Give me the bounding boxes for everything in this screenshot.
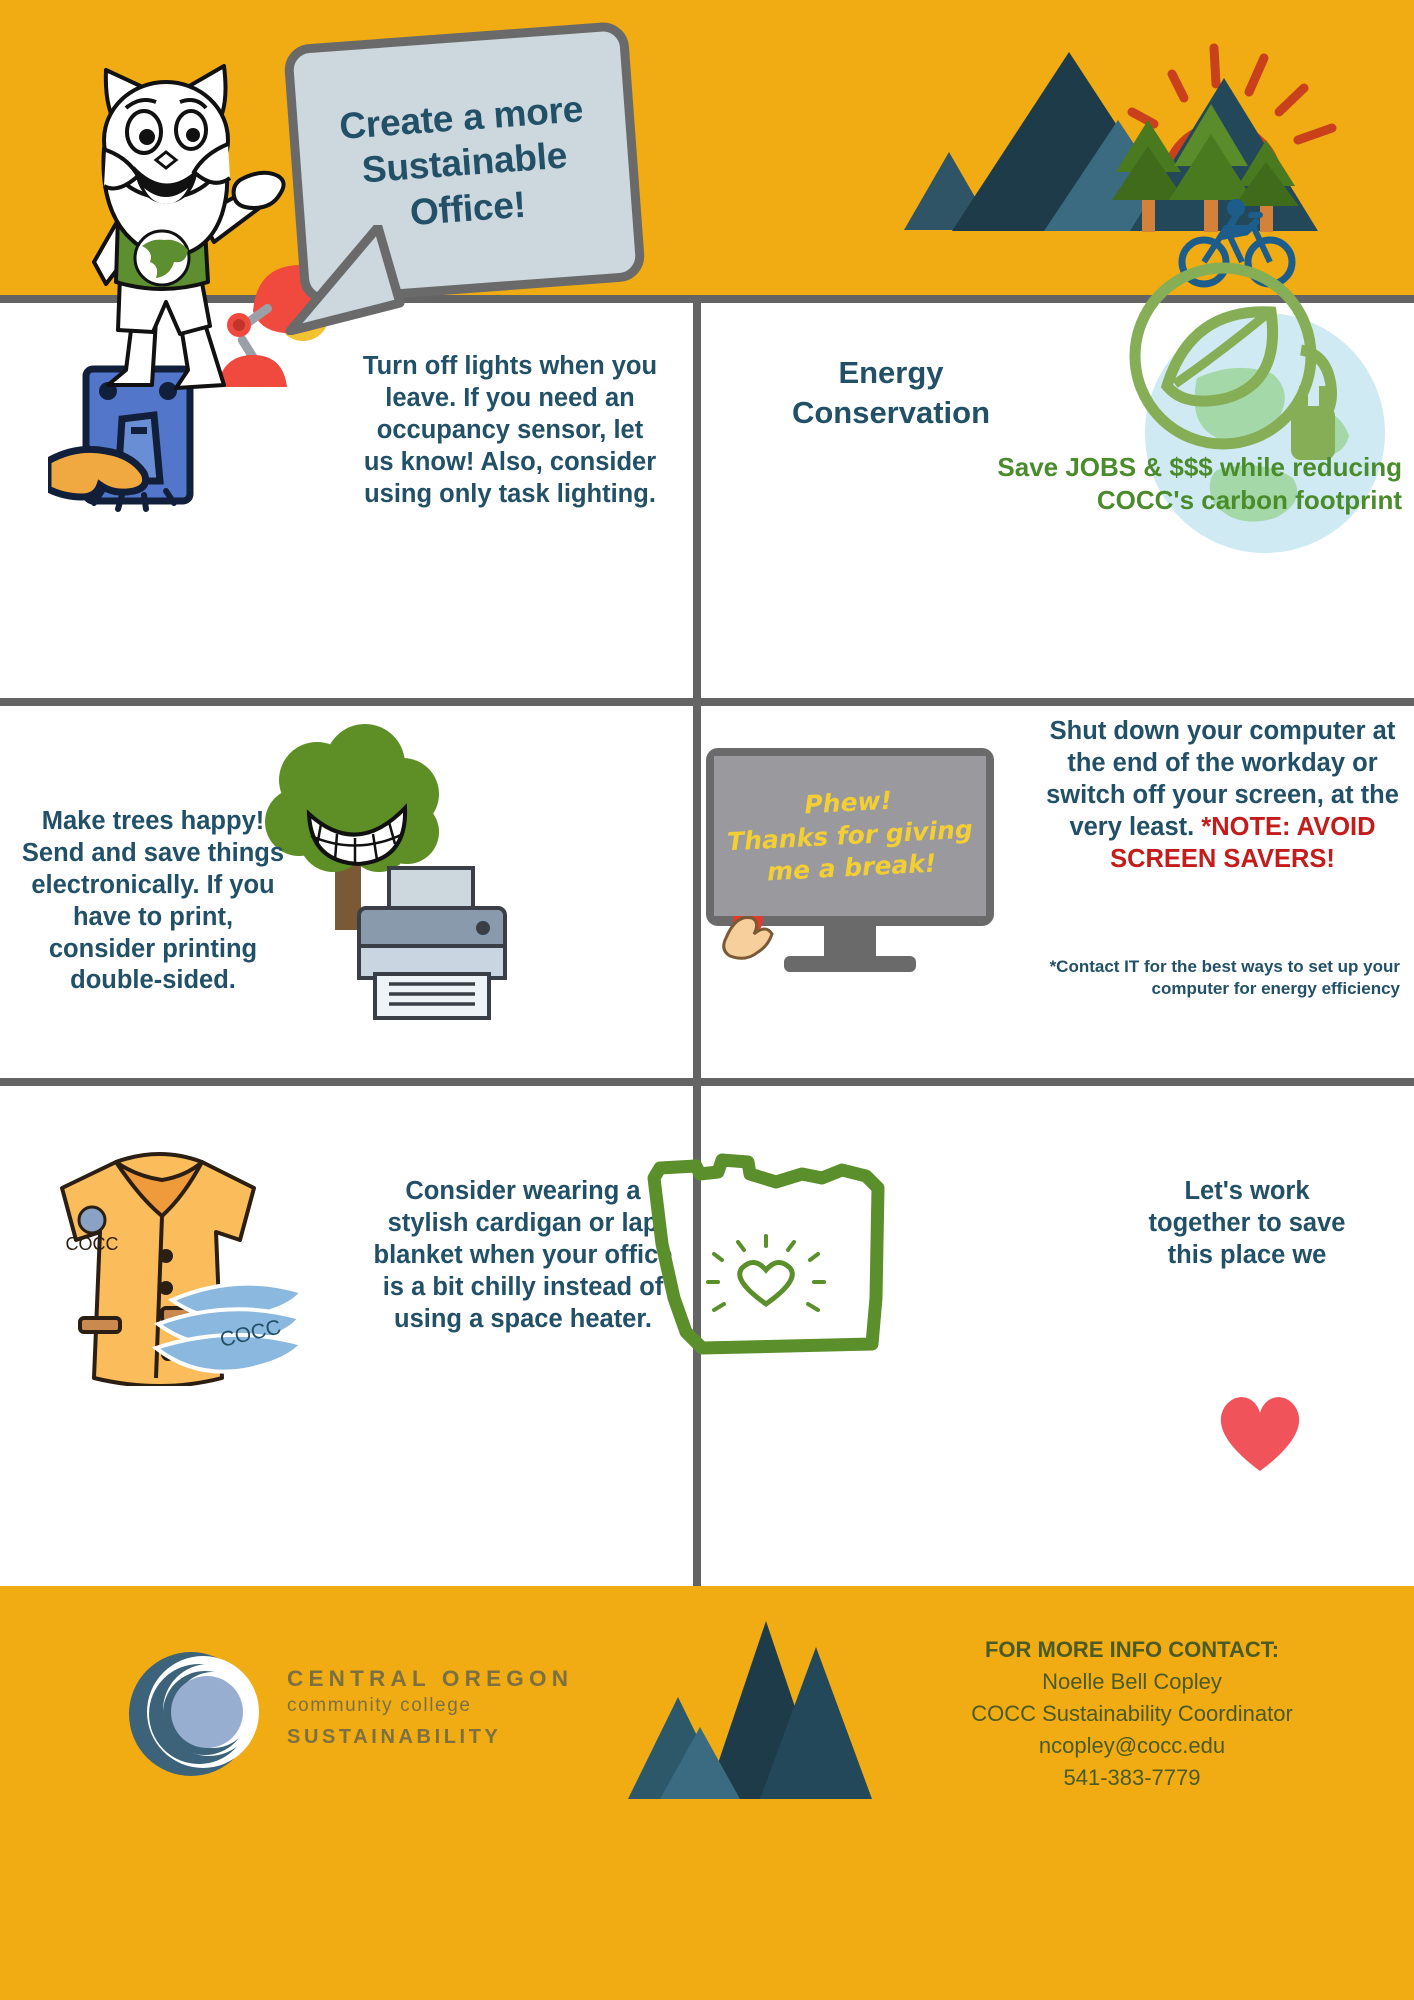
- grid-horizontal-divider-2: [0, 1078, 1414, 1086]
- cardigan-badge-label: COCC: [66, 1234, 119, 1254]
- cocc-logo-mark-icon: [125, 1638, 270, 1788]
- hand-icon: [48, 449, 146, 497]
- energy-green-text: Save JOBS & $$$ while reducing COCC's ca…: [922, 451, 1402, 518]
- cell-cardigan: COCC COCC Consider wearing a stylish car…: [0, 1086, 693, 1586]
- poster-title: Create a more Sustainable Office!: [338, 87, 591, 240]
- monitor-icon: Phew! Thanks for giving me a break!: [706, 748, 1016, 993]
- contact-phone: 541-383-7779: [932, 1762, 1332, 1794]
- contact-name: Noelle Bell Copley: [932, 1666, 1332, 1698]
- footer-mountain-icon: [620, 1611, 880, 1801]
- energy-title-line-2: Conservation: [721, 393, 1061, 433]
- heart-icon: [1214, 1391, 1306, 1473]
- energy-title-line-1: Energy: [721, 353, 1061, 393]
- cell-shut-down-computer: Phew! Thanks for giving me a break! Shut…: [701, 706, 1414, 1078]
- cardigan-pocket-left: [80, 1318, 120, 1332]
- speech-bubble-tail: [282, 225, 412, 335]
- footer-band: CENTRAL OREGON community college SUSTAIN…: [0, 1586, 1414, 2000]
- heart-sparkle-icon: [708, 1236, 824, 1310]
- shutdown-text-block: Shut down your computer at the end of th…: [1045, 716, 1400, 875]
- logo-line-3: SUSTAINABILITY: [287, 1726, 597, 1749]
- logo-line-2: community college: [287, 1695, 597, 1717]
- cardigan-icon: COCC COCC: [20, 1146, 310, 1386]
- cell-make-trees-happy: Make trees happy! Send and save things e…: [0, 706, 693, 1078]
- content-grid: Turn off lights when you leave. If you n…: [0, 303, 1414, 1586]
- cell-save-this-place: Let's work together to save this place w…: [701, 1086, 1414, 1586]
- mountain-sunrise-scene: [894, 0, 1414, 295]
- lights-text: Turn off lights when you leave. If you n…: [360, 351, 660, 510]
- cell-energy-conservation: Energy Conservation Save JOBS & $$$ whil…: [701, 303, 1414, 698]
- folded-blankets-icon: COCC: [156, 1284, 302, 1372]
- bobcat-mascot-icon: [48, 40, 288, 435]
- printer-output-paper: [375, 974, 489, 1018]
- cocc-badge-icon: [79, 1207, 105, 1233]
- contact-title: COCC Sustainability Coordinator: [932, 1698, 1332, 1730]
- contact-it-footnote: *Contact IT for the best ways to set up …: [1000, 956, 1400, 1000]
- monitor-message: Phew! Thanks for giving me a break!: [725, 781, 976, 891]
- grid-horizontal-divider-1: [0, 698, 1414, 706]
- leaf-plug-globe-icon: [1105, 258, 1400, 568]
- speech-bubble: Create a more Sustainable Office!: [292, 33, 637, 293]
- printer-paper-in: [389, 868, 473, 910]
- contact-info: FOR MORE INFO CONTACT: Noelle Bell Cople…: [932, 1634, 1332, 1793]
- cocc-logo-text: CENTRAL OREGON community college SUSTAIN…: [287, 1666, 597, 1749]
- oregon-outline-icon: [626, 1148, 941, 1398]
- monitor-neck: [824, 926, 876, 960]
- energy-conservation-title: Energy Conservation: [721, 353, 1061, 432]
- printer-icon: [345, 866, 525, 1021]
- save-place-text: Let's work together to save this place w…: [1132, 1176, 1362, 1272]
- mountain-scene-svg: [894, 0, 1414, 295]
- monitor-screen: Phew! Thanks for giving me a break!: [714, 756, 986, 916]
- contact-email[interactable]: ncopley@cocc.edu: [932, 1730, 1332, 1762]
- monitor-base: [784, 956, 916, 972]
- logo-line-1: CENTRAL OREGON: [287, 1666, 597, 1692]
- top-gold-banner: Create a more Sustainable Office!: [0, 0, 1414, 295]
- contact-header: FOR MORE INFO CONTACT:: [932, 1634, 1332, 1666]
- cocc-logo: CENTRAL OREGON community college SUSTAIN…: [125, 1638, 595, 1798]
- sustainable-office-poster: Create a more Sustainable Office!: [0, 0, 1414, 2000]
- trees-text: Make trees happy! Send and save things e…: [18, 806, 288, 997]
